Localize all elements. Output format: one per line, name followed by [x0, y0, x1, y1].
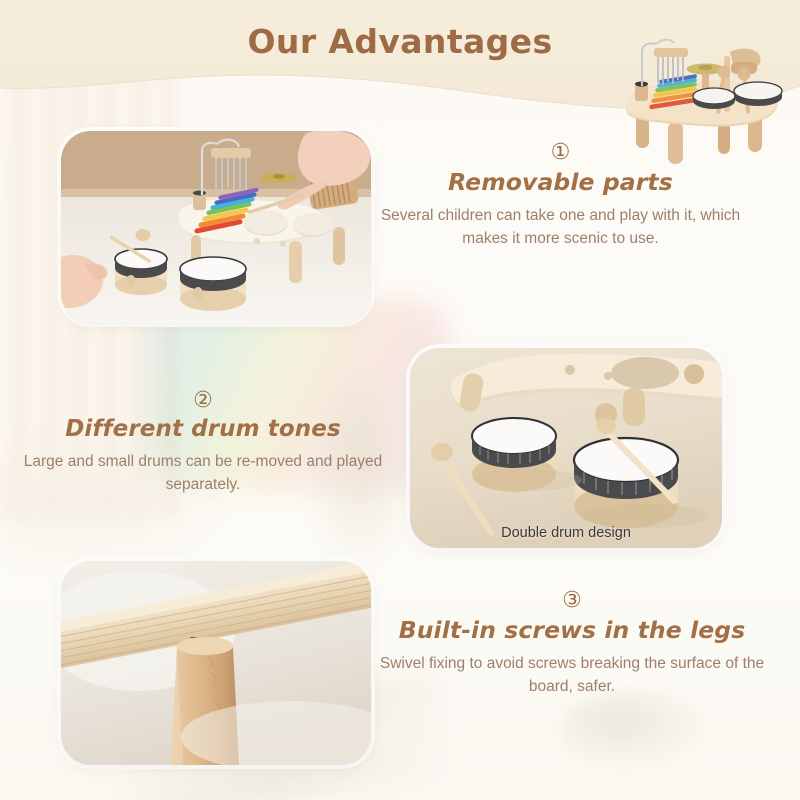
- infographic-page: Our Advantages: [0, 0, 800, 800]
- feature-headline-1: Removable parts: [378, 168, 743, 196]
- feature-number-2: ②: [18, 388, 388, 414]
- photo-removable-parts[interactable]: [61, 131, 371, 323]
- feature-headline-3: Built-in screws in the legs: [372, 616, 772, 644]
- feature-body-3: Swivel fixing to avoid screws breaking t…: [372, 653, 772, 698]
- background-blur-bottom-right: [560, 690, 710, 770]
- panel-caption-double-drum: Double drum design: [410, 525, 722, 541]
- feature-body-2: Large and small drums can be re-moved an…: [18, 451, 388, 496]
- feature-block-3: ③ Built-in screws in the legs Swivel fix…: [372, 588, 772, 698]
- feature-block-2: ② Different drum tones Large and small d…: [18, 388, 388, 496]
- feature-body-1: Several children can take one and play w…: [378, 205, 743, 250]
- photo-built-in-screw[interactable]: [61, 561, 371, 765]
- feature-number-3: ③: [372, 588, 772, 614]
- page-title: Our Advantages: [0, 22, 800, 61]
- photo-double-drum[interactable]: Double drum design: [410, 348, 722, 548]
- feature-headline-2: Different drum tones: [18, 416, 388, 442]
